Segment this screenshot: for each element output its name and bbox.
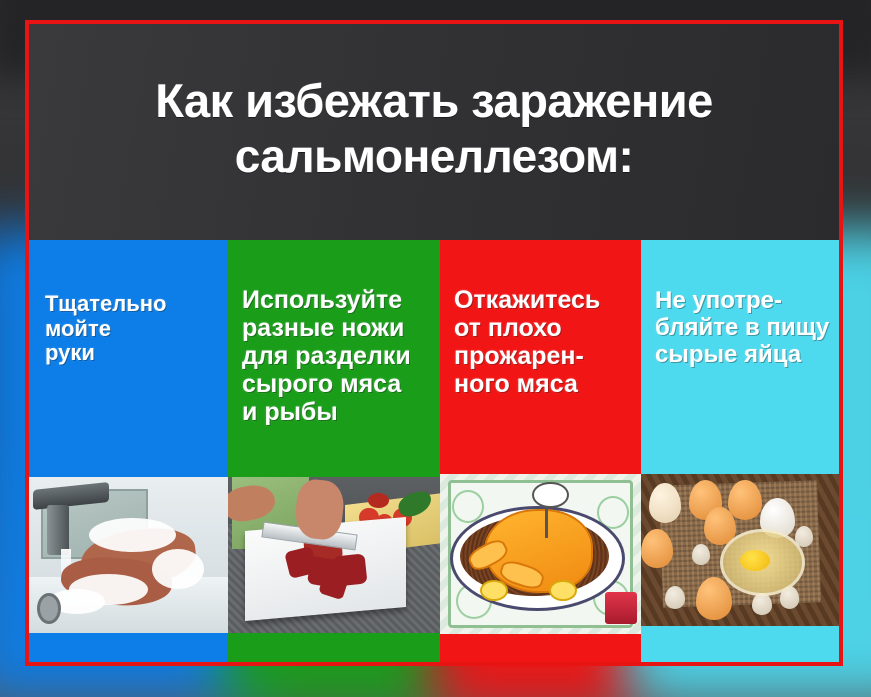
photo-wash-hands bbox=[29, 477, 228, 633]
advice-column-separate-knives: Используйте разные ножи для разделки сыр… bbox=[228, 240, 440, 662]
poster-title-line-1: Как избежать заражение bbox=[155, 73, 713, 128]
poster-stage: Как избежать заражение сальмонеллезом: Т… bbox=[0, 0, 871, 697]
advice-columns: Тщательно мойте руки Используйте разные … bbox=[29, 240, 839, 662]
poster-header: Как избежать заражение сальмонеллезом: bbox=[29, 24, 839, 240]
advice-text-separate-knives: Используйте разные ножи для разделки сыр… bbox=[228, 240, 440, 426]
advice-column-wash-hands: Тщательно мойте руки bbox=[29, 240, 228, 662]
advice-column-raw-eggs: Не употре- бляйте в пищу сырые яйца bbox=[641, 240, 839, 662]
advice-column-undercooked-meat: Откажитесь от плохо прожарен- ного мяса bbox=[440, 240, 641, 662]
photo-cutting-meat bbox=[228, 477, 440, 633]
advice-text-raw-eggs: Не употре- бляйте в пищу сырые яйца bbox=[641, 240, 839, 369]
poster-frame: Как избежать заражение сальмонеллезом: Т… bbox=[25, 20, 843, 666]
photo-raw-eggs bbox=[641, 474, 839, 626]
advice-text-undercooked-meat: Откажитесь от плохо прожарен- ного мяса bbox=[440, 240, 641, 398]
advice-text-wash-hands: Тщательно мойте руки bbox=[29, 240, 228, 366]
photo-roast-chicken bbox=[440, 474, 641, 634]
poster-title-line-2: сальмонеллезом: bbox=[235, 129, 634, 183]
